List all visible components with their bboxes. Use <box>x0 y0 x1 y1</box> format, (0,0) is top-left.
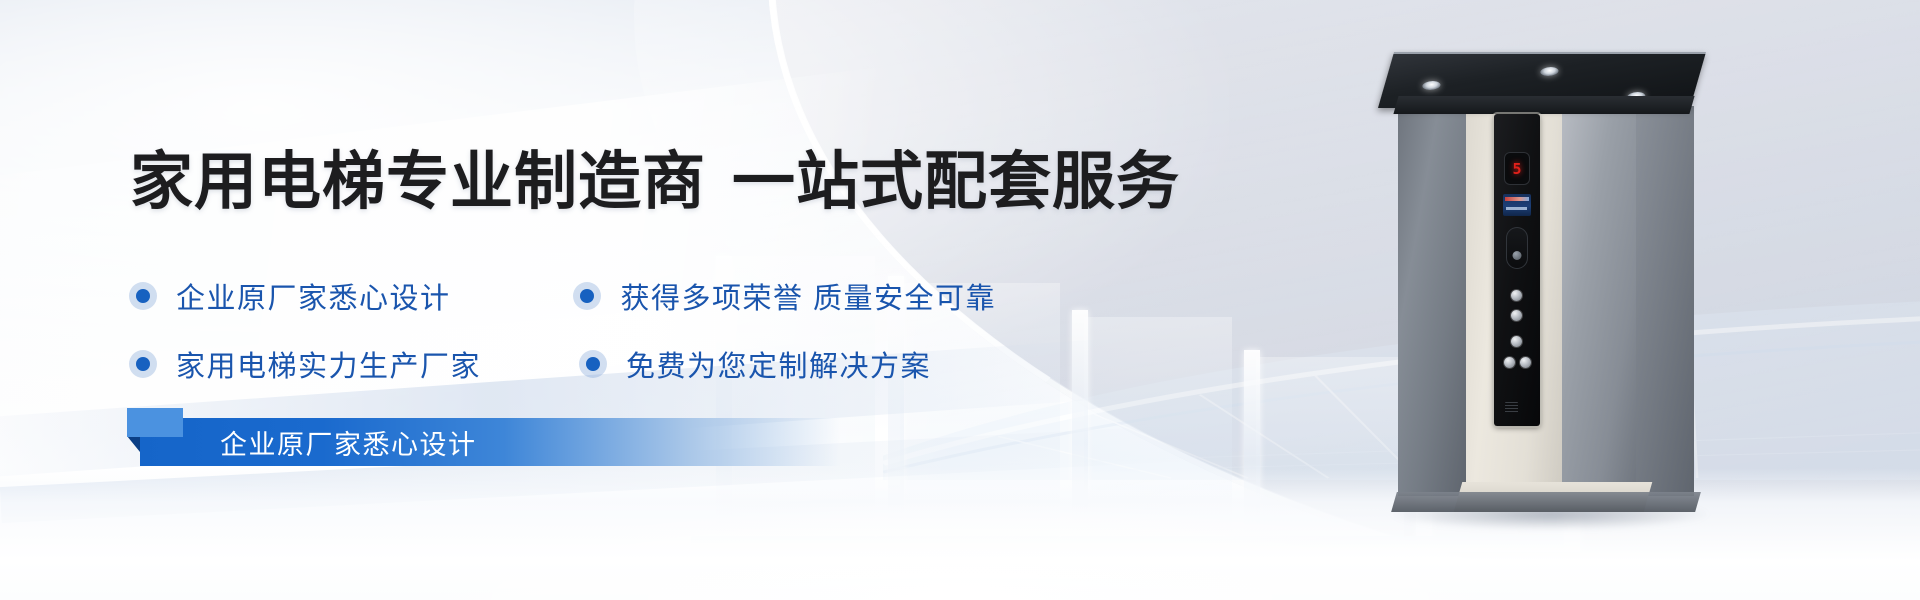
feature-row: 企业原厂家悉心设计 获得多项荣誉 质量安全可靠 <box>136 262 996 330</box>
ribbon-fold-icon <box>127 436 140 452</box>
feature-item-4: 免费为您定制解决方案 <box>586 343 931 385</box>
feature-label: 企业原厂家悉心设计 <box>176 275 451 317</box>
feature-item-3: 家用电梯实力生产厂家 <box>136 343 586 385</box>
dot-bullet-icon <box>136 357 150 371</box>
hero-banner: 5 家用电梯专业制造商一站式配套服务 企业原厂家悉心设计 <box>0 0 1920 600</box>
feature-row: 家用电梯实力生产厂家 免费为您定制解决方案 <box>136 330 996 398</box>
dot-bullet-icon <box>136 289 150 303</box>
ribbon-tab-icon <box>127 408 183 437</box>
feature-item-2: 获得多项荣誉 质量安全可靠 <box>580 275 996 317</box>
dot-bullet-icon <box>580 289 594 303</box>
banner-headline: 家用电梯专业制造商一站式配套服务 <box>130 131 1180 222</box>
feature-label: 家用电梯实力生产厂家 <box>176 343 481 385</box>
feature-label: 免费为您定制解决方案 <box>626 343 931 385</box>
ribbon-label: 企业原厂家悉心设计 <box>220 418 477 466</box>
feature-list: 企业原厂家悉心设计 获得多项荣誉 质量安全可靠 家用电梯实力生产厂家 免费为您定… <box>136 262 996 398</box>
headline-part-1: 家用电梯专业制造商 <box>130 147 706 217</box>
feature-item-1: 企业原厂家悉心设计 <box>136 275 580 317</box>
feature-label: 获得多项荣誉 质量安全可靠 <box>620 275 996 317</box>
dot-bullet-icon <box>586 357 600 371</box>
highlight-ribbon: 企业原厂家悉心设计 <box>140 418 840 466</box>
headline-part-2: 一站式配套服务 <box>732 147 1180 217</box>
banner-content: 家用电梯专业制造商一站式配套服务 企业原厂家悉心设计 获得多项荣誉 质量安全可靠… <box>0 0 1920 600</box>
